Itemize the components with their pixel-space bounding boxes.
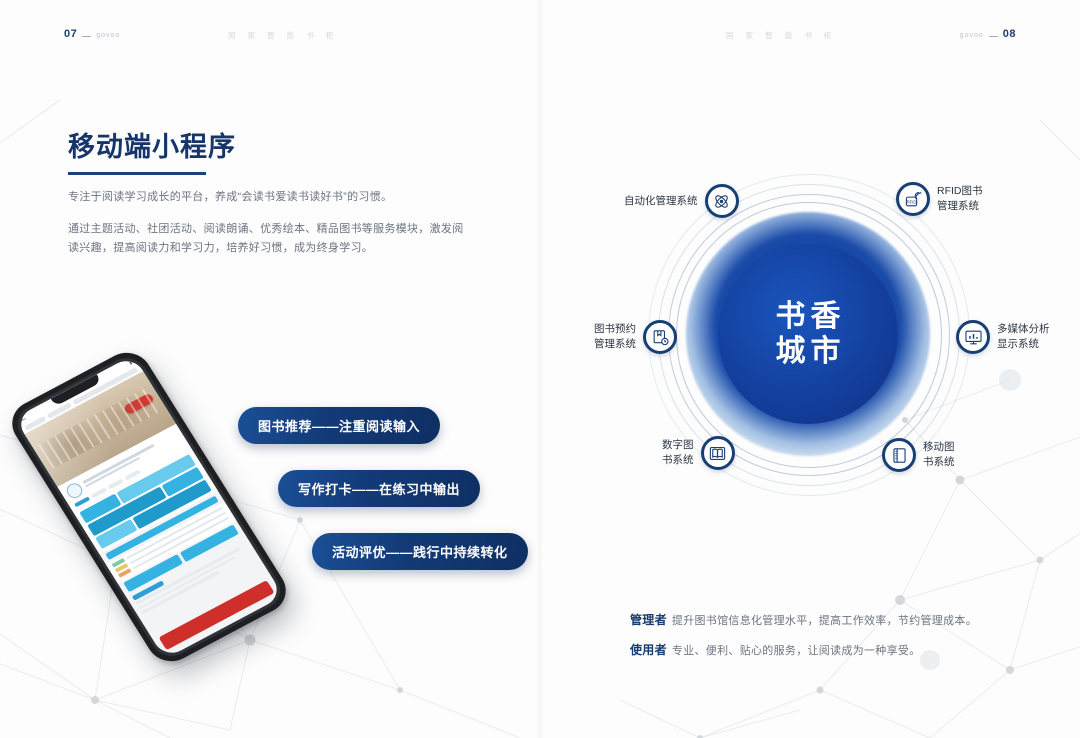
core-text-line-2: 城市 bbox=[771, 334, 846, 369]
page-gutter-shadow bbox=[537, 0, 543, 738]
rfid-tag-icon: RFID bbox=[896, 182, 930, 216]
note-role-label: 管理者 bbox=[630, 613, 667, 627]
note-administrator: 管理者提升图书馆信息化管理水平，提高工作效率，节约管理成本。 bbox=[630, 611, 977, 628]
diagram-node-rfid[interactable]: RFID RFID图书 管理系统 bbox=[896, 182, 983, 216]
diagram-node-multimedia[interactable]: 多媒体分析 显示系统 bbox=[956, 320, 1050, 354]
node-label-line-1: 图书预约 bbox=[594, 322, 636, 337]
header-right: govoo 08 bbox=[960, 28, 1016, 40]
page-title: 移动端小程序 bbox=[68, 132, 236, 163]
avatar bbox=[64, 481, 85, 501]
node-label-line-1: 数字图 bbox=[662, 438, 694, 453]
diagram-node-reservation[interactable]: 图书预约 管理系统 bbox=[594, 320, 677, 354]
intro-paragraph-2: 通过主题活动、社团活动、阅读朗诵、优秀绘本、精品图书等服务模块，激发阅读兴趣，提… bbox=[68, 220, 470, 259]
title-underline bbox=[68, 172, 206, 175]
intro-paragraph-1: 专注于阅读学习成长的平台，养成“会读书爱读书读好书”的习惯。 bbox=[68, 188, 488, 207]
node-label-line-2: 显示系统 bbox=[997, 337, 1050, 352]
svg-text:RFID: RFID bbox=[906, 199, 916, 204]
section-title-block: 移动端小程序 bbox=[68, 132, 236, 175]
callout-label: 活动评优——践行中持续转化 bbox=[332, 542, 508, 561]
node-label: 移动图 书系统 bbox=[923, 440, 955, 469]
note-role-label: 使用者 bbox=[630, 643, 667, 657]
phone-device: •••▮ bbox=[3, 344, 295, 669]
monitor-chart-icon bbox=[956, 320, 990, 354]
node-label-line-2: 书系统 bbox=[662, 453, 694, 468]
node-label: RFID图书 管理系统 bbox=[937, 184, 983, 213]
note-user: 使用者专业、便利、贴心的服务，让阅读成为一种享受。 bbox=[630, 641, 921, 658]
callout-label: 图书推荐——注重阅读输入 bbox=[258, 416, 420, 435]
ecosystem-diagram: 书香 城市 自动化管理系统 RFID bbox=[600, 168, 1040, 498]
page-number-right: 08 bbox=[1003, 28, 1016, 40]
node-label-line-1: 移动图 bbox=[923, 440, 955, 455]
page-number-left: 07 bbox=[64, 28, 77, 40]
note-text: 专业、便利、贴心的服务，让阅读成为一种享受。 bbox=[672, 645, 921, 657]
atom-icon bbox=[705, 184, 739, 218]
node-label: 数字图 书系统 bbox=[662, 438, 694, 467]
open-book-icon bbox=[701, 436, 735, 470]
brand-mark-right: govoo bbox=[960, 32, 984, 39]
callout-writing-checkin[interactable]: 写作打卡——在练习中输出 bbox=[278, 470, 480, 507]
book-clock-icon bbox=[643, 320, 677, 354]
node-label-line-2: 书系统 bbox=[923, 455, 955, 470]
spine-text-right: 国 家 智 能 书 柜 bbox=[726, 30, 836, 41]
phone-bezel: •••▮ bbox=[10, 351, 288, 663]
header-left: 07 govoo bbox=[64, 28, 120, 40]
node-label-line-2: 管理系统 bbox=[937, 199, 983, 214]
diagram-core: 书香 城市 bbox=[718, 244, 898, 424]
callout-book-recommendation[interactable]: 图书推荐——注重阅读输入 bbox=[238, 407, 440, 444]
header-dash-left bbox=[82, 36, 91, 37]
hero-action-button[interactable] bbox=[123, 393, 155, 416]
core-text-line-1: 书香 bbox=[771, 299, 846, 334]
notebook-icon bbox=[882, 438, 916, 472]
diagram-node-digital-library[interactable]: 数字图 书系统 bbox=[662, 436, 735, 470]
diagram-core-text: 书香 城市 bbox=[771, 299, 846, 370]
node-label: 图书预约 管理系统 bbox=[594, 322, 636, 351]
callout-activity-award[interactable]: 活动评优——践行中持续转化 bbox=[312, 533, 528, 570]
page-root: 07 govoo 国 家 智 能 书 柜 国 家 智 能 书 柜 govoo 0… bbox=[0, 0, 1080, 738]
node-label-line-1: RFID图书 bbox=[937, 184, 983, 199]
callout-label: 写作打卡——在练习中输出 bbox=[298, 479, 460, 498]
brand-mark-left: govoo bbox=[96, 32, 120, 39]
node-label: 自动化管理系统 bbox=[624, 194, 698, 209]
phone-screen: •••▮ bbox=[14, 355, 283, 659]
spine-text-left: 国 家 智 能 书 柜 bbox=[228, 30, 338, 41]
diagram-node-mobile-library[interactable]: 移动图 书系统 bbox=[882, 438, 955, 472]
diagram-node-automation[interactable]: 自动化管理系统 bbox=[624, 184, 739, 218]
node-label-line-2: 管理系统 bbox=[594, 337, 636, 352]
node-label-line-1: 多媒体分析 bbox=[997, 322, 1050, 337]
node-label: 多媒体分析 显示系统 bbox=[997, 322, 1050, 351]
note-text: 提升图书馆信息化管理水平，提高工作效率，节约管理成本。 bbox=[672, 615, 977, 627]
header-dash-right bbox=[989, 36, 998, 37]
